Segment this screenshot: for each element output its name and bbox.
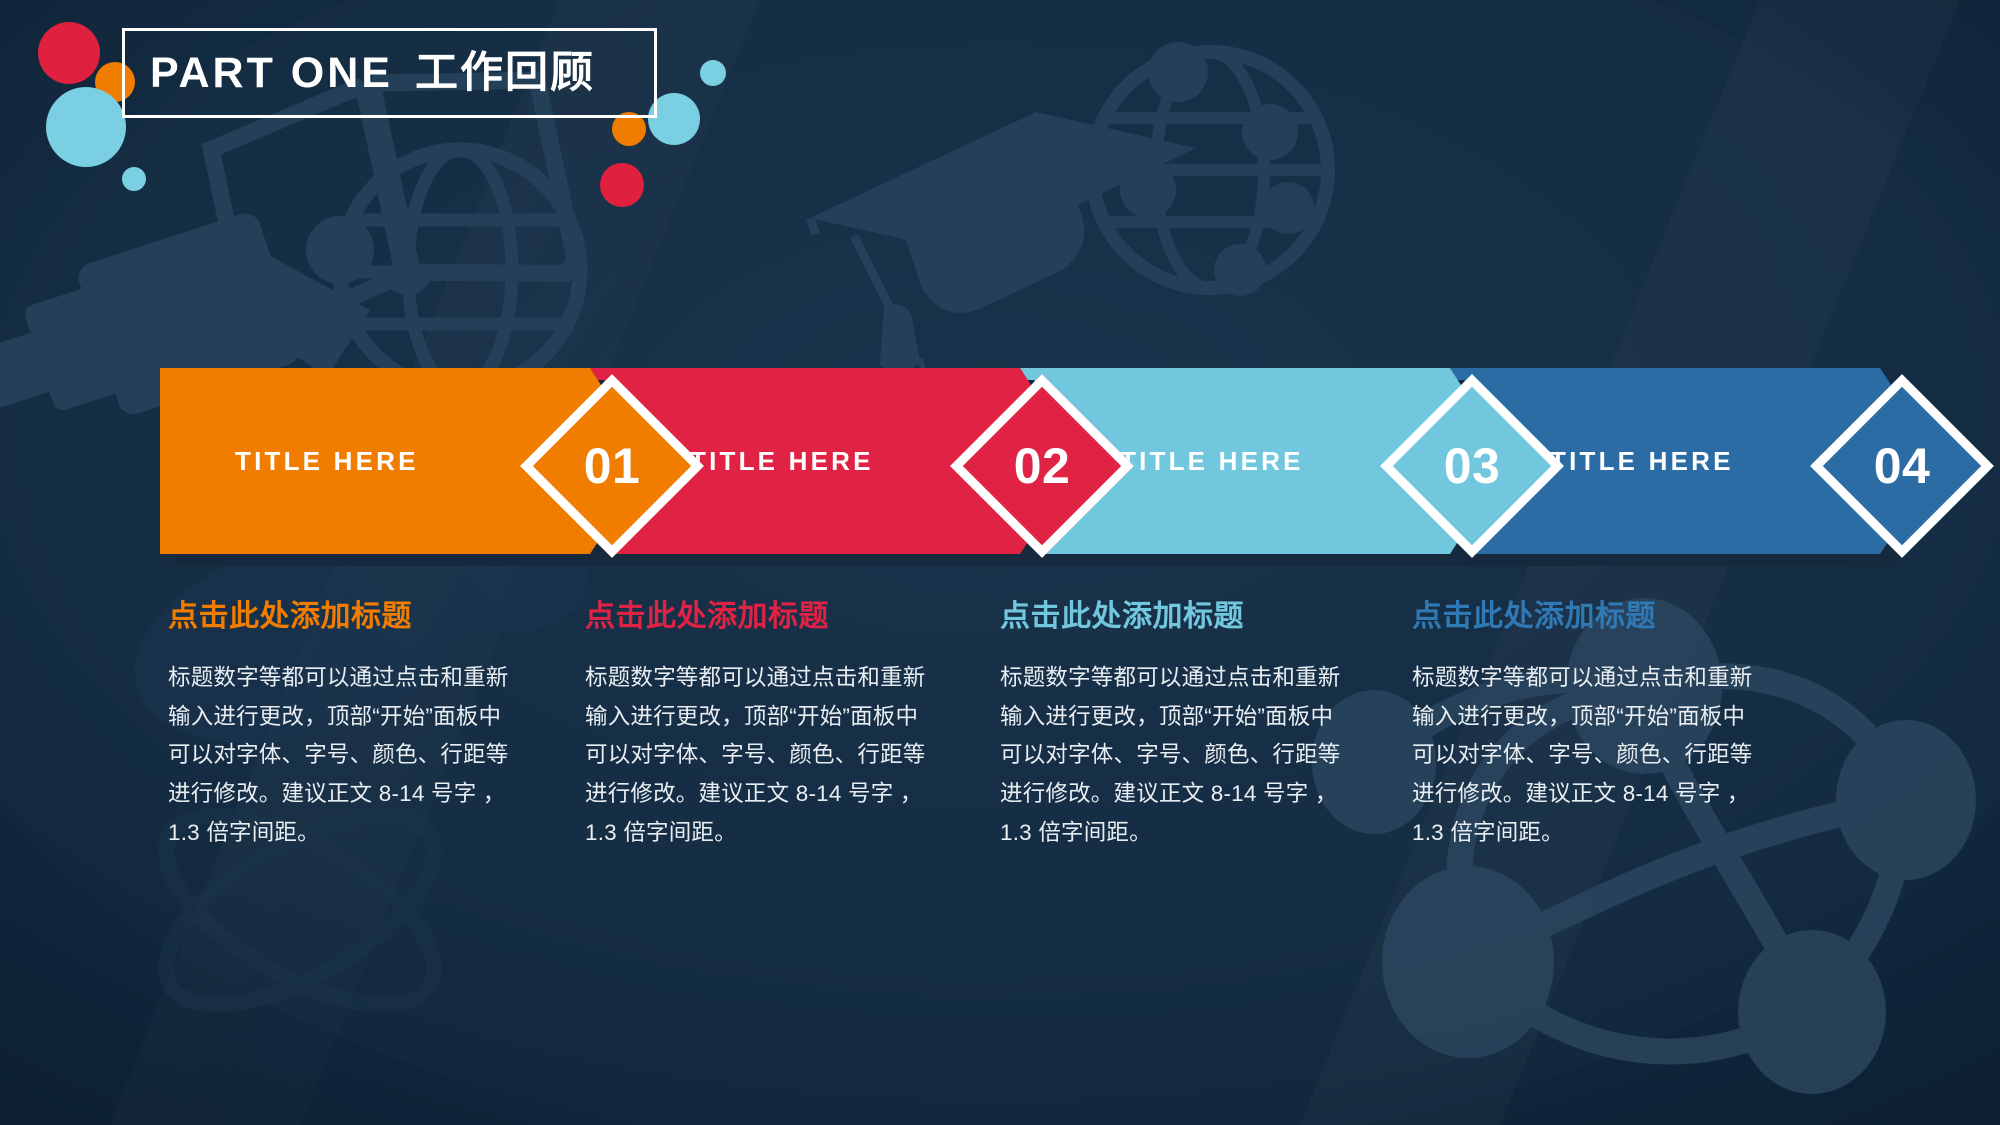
dot-cyan-small-top	[700, 60, 726, 86]
page-title: PART ONE工作回顾	[150, 52, 595, 95]
segment-title: TITLE HERE	[1120, 368, 1304, 554]
segment-number: 03	[1374, 368, 1570, 564]
process-banner: TITLE HERE01TITLE HERE02TITLE HERE03TITL…	[0, 355, 2000, 555]
segment-number: 02	[944, 368, 1140, 564]
column-heading[interactable]: 点击此处添加标题	[1000, 600, 1352, 633]
segment-title: TITLE HERE	[1550, 368, 1734, 554]
description-column-2: 点击此处添加标题标题数字等都可以通过点击和重新输入进行更改，顶部“开始”面板中可…	[585, 600, 937, 852]
column-heading[interactable]: 点击此处添加标题	[1412, 600, 1764, 633]
part-title-box: PART ONE工作回顾	[122, 28, 657, 118]
part-label: PART ONE	[150, 49, 393, 97]
column-body-text[interactable]: 标题数字等都可以通过点击和重新输入进行更改，顶部“开始”面板中可以对字体、字号、…	[168, 659, 520, 852]
description-column-3: 点击此处添加标题标题数字等都可以通过点击和重新输入进行更改，顶部“开始”面板中可…	[1000, 600, 1352, 852]
column-body-text[interactable]: 标题数字等都可以通过点击和重新输入进行更改，顶部“开始”面板中可以对字体、字号、…	[1000, 659, 1352, 852]
segment-number-diamond: 04	[1804, 368, 2000, 564]
description-column-1: 点击此处添加标题标题数字等都可以通过点击和重新输入进行更改，顶部“开始”面板中可…	[168, 600, 520, 852]
dot-crimson-right	[600, 163, 644, 207]
segment-number: 04	[1804, 368, 2000, 564]
segment-number-diamond: 03	[1374, 368, 1570, 564]
segment-number-diamond: 02	[944, 368, 1140, 564]
segment-title: TITLE HERE	[235, 368, 419, 554]
column-body-text[interactable]: 标题数字等都可以通过点击和重新输入进行更改，顶部“开始”面板中可以对字体、字号、…	[1412, 659, 1764, 852]
column-body-text[interactable]: 标题数字等都可以通过点击和重新输入进行更改，顶部“开始”面板中可以对字体、字号、…	[585, 659, 937, 852]
dot-cyan-large	[46, 87, 126, 167]
description-column-4: 点击此处添加标题标题数字等都可以通过点击和重新输入进行更改，顶部“开始”面板中可…	[1412, 600, 1764, 852]
segment-number: 01	[514, 368, 710, 564]
description-columns: 点击此处添加标题标题数字等都可以通过点击和重新输入进行更改，顶部“开始”面板中可…	[0, 600, 2000, 960]
column-heading[interactable]: 点击此处添加标题	[585, 600, 937, 633]
column-heading[interactable]: 点击此处添加标题	[168, 600, 520, 633]
dot-cyan-tiny	[122, 167, 146, 191]
dot-crimson-large	[38, 22, 100, 84]
segment-number-diamond: 01	[514, 368, 710, 564]
slide-canvas: PART ONE工作回顾 TITLE HERE01TITLE HERE02TIT…	[0, 0, 2000, 1125]
part-title-cn: 工作回顾	[415, 49, 595, 97]
segment-title: TITLE HERE	[690, 368, 874, 554]
